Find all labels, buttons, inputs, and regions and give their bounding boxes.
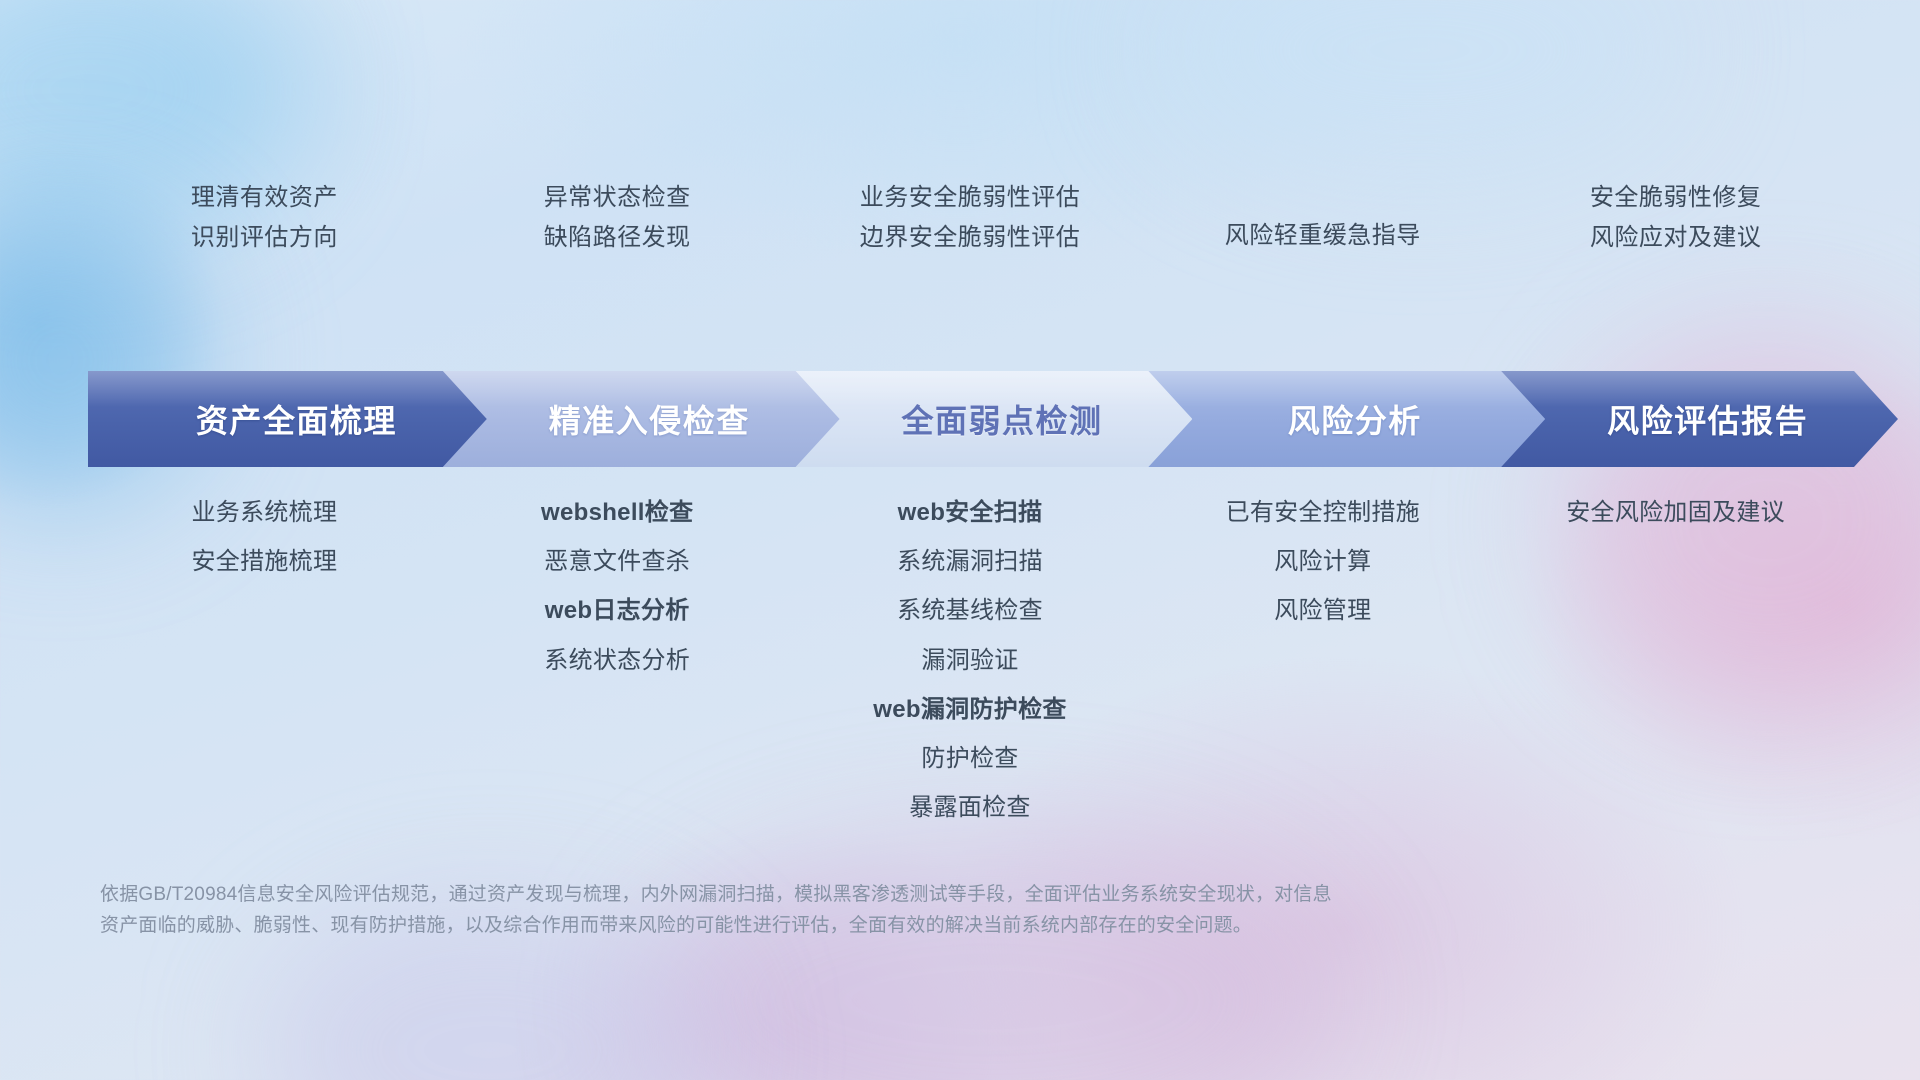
phase-chevron-band: 资产全面梳理精准入侵检查全面弱点检测风险分析风险评估报告 — [88, 371, 1852, 467]
top-label: 理清有效资产 — [191, 185, 338, 211]
top-label: 安全脆弱性修复 — [1590, 185, 1762, 211]
bottom-label: 暴露面检查 — [909, 795, 1031, 820]
phase-chevron-3[interactable]: 全面弱点检测 — [794, 371, 1193, 467]
phase-chevron-1[interactable]: 资产全面梳理 — [88, 371, 487, 467]
footer-line-1: 依据GB/T20984信息安全风险评估规范，通过资产发现与梳理，内外网漏洞扫描，… — [100, 880, 1660, 911]
bottom-label: 防护检查 — [921, 746, 1018, 771]
phase-title-3: 全面弱点检测 — [794, 396, 1193, 442]
top-labels-phase-4: 风险轻重缓急指导 — [1146, 223, 1499, 249]
top-label: 业务安全脆弱性评估 — [860, 185, 1081, 211]
background-blob-bottom — [640, 830, 1340, 1080]
bottom-labels-phase-4: 已有安全控制措施风险计算风险管理 — [1146, 500, 1499, 624]
top-label: 边界安全脆弱性评估 — [860, 225, 1081, 251]
bottom-label: 风险管理 — [1274, 598, 1371, 623]
bottom-label: 系统漏洞扫描 — [897, 549, 1043, 574]
top-label: 异常状态检查 — [544, 185, 691, 211]
bottom-label: web安全扫描 — [898, 500, 1043, 525]
bottom-label: 业务系统梳理 — [191, 500, 337, 525]
bottom-label: 系统基线检查 — [897, 598, 1043, 623]
footer-description: 依据GB/T20984信息安全风险评估规范，通过资产发现与梳理，内外网漏洞扫描，… — [100, 880, 1660, 942]
phase-title-5: 风险评估报告 — [1499, 396, 1898, 442]
bottom-labels-phase-3: web安全扫描系统漏洞扫描系统基线检查漏洞验证web漏洞防护检查防护检查暴露面检… — [794, 500, 1147, 820]
bottom-label: 安全措施梳理 — [191, 549, 337, 574]
top-label-row: 理清有效资产识别评估方向异常状态检查缺陷路径发现业务安全脆弱性评估边界安全脆弱性… — [0, 185, 1920, 275]
bottom-label: web漏洞防护检查 — [873, 697, 1066, 722]
top-labels-phase-1: 理清有效资产识别评估方向 — [88, 185, 441, 251]
top-labels-phase-3: 业务安全脆弱性评估边界安全脆弱性评估 — [794, 185, 1147, 251]
phase-chevron-2[interactable]: 精准入侵检查 — [441, 371, 840, 467]
bottom-label: 恶意文件查杀 — [544, 549, 690, 574]
bottom-label: 漏洞验证 — [921, 648, 1018, 673]
bottom-labels-phase-1: 业务系统梳理安全措施梳理 — [88, 500, 441, 574]
background-blob-top-right — [1160, 0, 1680, 180]
bottom-labels-phase-5: 安全风险加固及建议 — [1499, 500, 1852, 525]
phase-title-4: 风险分析 — [1146, 396, 1545, 442]
phase-title-1: 资产全面梳理 — [88, 396, 487, 442]
footer-line-2: 资产面临的威胁、脆弱性、现有防护措施，以及综合作用而带来风险的可能性进行评估，全… — [100, 911, 1660, 942]
top-labels-phase-5: 安全脆弱性修复风险应对及建议 — [1499, 185, 1852, 251]
top-label: 识别评估方向 — [191, 225, 338, 251]
top-labels-phase-2: 异常状态检查缺陷路径发现 — [441, 185, 794, 251]
bottom-label: webshell检查 — [541, 500, 693, 525]
bottom-label: 系统状态分析 — [544, 648, 690, 673]
bottom-label: 已有安全控制措施 — [1226, 500, 1420, 525]
slide-canvas: 理清有效资产识别评估方向异常状态检查缺陷路径发现业务安全脆弱性评估边界安全脆弱性… — [0, 0, 1920, 1080]
bottom-label: web日志分析 — [545, 598, 690, 623]
phase-chevron-4[interactable]: 风险分析 — [1146, 371, 1545, 467]
bottom-labels-phase-2: webshell检查恶意文件查杀web日志分析系统状态分析 — [441, 500, 794, 673]
phase-chevron-5[interactable]: 风险评估报告 — [1499, 371, 1898, 467]
bottom-label: 风险计算 — [1274, 549, 1371, 574]
top-label: 缺陷路径发现 — [544, 225, 691, 251]
phase-title-2: 精准入侵检查 — [441, 396, 840, 442]
top-label: 风险应对及建议 — [1590, 225, 1762, 251]
top-label: 风险轻重缓急指导 — [1225, 223, 1421, 249]
bottom-label: 安全风险加固及建议 — [1566, 500, 1785, 525]
